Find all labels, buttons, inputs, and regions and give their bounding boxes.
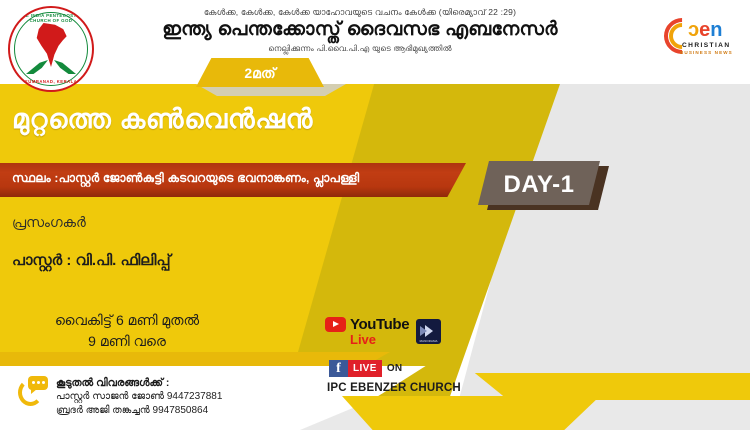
handset-shape bbox=[18, 379, 43, 406]
chevron-back-icon bbox=[420, 326, 427, 336]
page-title: മുറ്റത്തെ കൺവെൻഷൻ bbox=[12, 104, 313, 136]
time-block: വൈകിട്ട് 6 മണി മുതൽ 9 മണി വരെ bbox=[12, 310, 242, 352]
cen-tagline-2: BUSINESS NEWS bbox=[680, 50, 733, 55]
phone-chat-icon bbox=[18, 376, 48, 406]
cen-letter-c: ɔ bbox=[688, 19, 699, 41]
facebook-live-label: LIVE bbox=[348, 360, 382, 377]
bible-verse: കേൾക്ക, കേൾക്ക, കേൾക്ക യാഹോവയുടെ വചനം കേ… bbox=[120, 8, 600, 17]
speakers-label: പ്രസംഗകർ bbox=[12, 214, 86, 231]
on-text: ON bbox=[387, 363, 403, 374]
youtube-play-icon bbox=[325, 317, 346, 332]
manorama-max-icon[interactable]: MANORAMA bbox=[416, 319, 441, 344]
time-line-1: വൈകിട്ട് 6 മണി മുതൽ bbox=[12, 310, 242, 331]
contact-line-1: പാസ്റ്റർ സാജൻ ജോൺ 9447237881 bbox=[56, 390, 222, 404]
venue-text: സ്ഥലം :പാസ്റ്റർ ജോൺകുട്ടി കടവറയുടെ ഭവനാങ… bbox=[12, 171, 359, 186]
header-text-group: കേൾക്ക, കേൾക്ക, കേൾക്ക യാഹോവയുടെ വചനം കേ… bbox=[120, 8, 600, 54]
poster-canvas: THE INDIA PENTECOSTAL CHURCH OF GOD KUMB… bbox=[0, 0, 750, 430]
youtube-wordmark-row: YouTube bbox=[325, 316, 409, 333]
facebook-live-badge[interactable]: f LIVE bbox=[329, 360, 382, 377]
cen-tagline-1: CHRISTIAN bbox=[682, 42, 731, 49]
time-line-2: 9 മണി വരെ bbox=[12, 331, 242, 352]
venue-bar: സ്ഥലം :പാസ്റ്റർ ജോൺകുട്ടി കടവറയുടെ ഭവനാങ… bbox=[0, 163, 466, 197]
cen-letter-e: e bbox=[699, 19, 710, 41]
manorama-caption: MANORAMA bbox=[416, 339, 441, 343]
youtube-wordmark: YouTube bbox=[350, 316, 409, 333]
day-badge: DAY-1 bbox=[478, 161, 600, 205]
channel-name: IPC EBENZER CHURCH bbox=[327, 382, 461, 394]
facebook-live-row: f LIVE ON bbox=[329, 360, 461, 377]
ipc-seal-logo: THE INDIA PENTECOSTAL CHURCH OF GOD KUMB… bbox=[8, 6, 94, 92]
streaming-block: YouTube Live MANORAMA f LIVE ON IPC EBEN… bbox=[325, 316, 461, 394]
facebook-f-icon: f bbox=[329, 360, 348, 377]
edition-label: 2മത് bbox=[196, 65, 324, 82]
seal-bottom-text: KUMBANAD, KERALA bbox=[10, 79, 92, 84]
cen-wordmark: ɔen bbox=[688, 20, 722, 40]
contact-block: കൂടുതൽ വിവരങ്ങൾക്ക് : പാസ്റ്റർ സാജൻ ജോൺ … bbox=[18, 376, 222, 418]
speaker-name: പാസ്റ്റർ : വി.പി. ഫിലിപ്പ് bbox=[12, 252, 171, 269]
edition-tab: 2മത് bbox=[196, 58, 324, 87]
organisation-subtitle: നെല്ലിക്കുന്നം പി.വൈ.പി.എ യുടെ ആഭിമുഖ്യത… bbox=[120, 44, 600, 54]
header-band: THE INDIA PENTECOSTAL CHURCH OF GOD KUMB… bbox=[0, 0, 750, 84]
youtube-live-row: YouTube Live MANORAMA bbox=[325, 316, 461, 346]
cen-letter-n: n bbox=[710, 19, 722, 41]
contact-line-2: ബ്രദർ അജി തങ്കച്ചൻ 9947850864 bbox=[56, 404, 222, 418]
day-badge-label: DAY-1 bbox=[478, 171, 600, 199]
cen-christian-news-logo: ɔen CHRISTIAN BUSINESS NEWS bbox=[662, 8, 740, 64]
seal-top-text: THE INDIA PENTECOSTAL CHURCH OF GOD bbox=[10, 13, 92, 23]
organisation-name: ഇന്ത്യ പെന്തക്കോസ്ത് ദൈവസഭ എബനേസർ bbox=[120, 18, 600, 42]
youtube-live-label: Live bbox=[350, 333, 376, 346]
youtube-logo[interactable]: YouTube Live bbox=[325, 316, 409, 346]
contact-details: കൂടുതൽ വിവരങ്ങൾക്ക് : പാസ്റ്റർ സാജൻ ജോൺ … bbox=[56, 376, 222, 418]
contact-heading: കൂടുതൽ വിവരങ്ങൾക്ക് : bbox=[56, 376, 222, 390]
